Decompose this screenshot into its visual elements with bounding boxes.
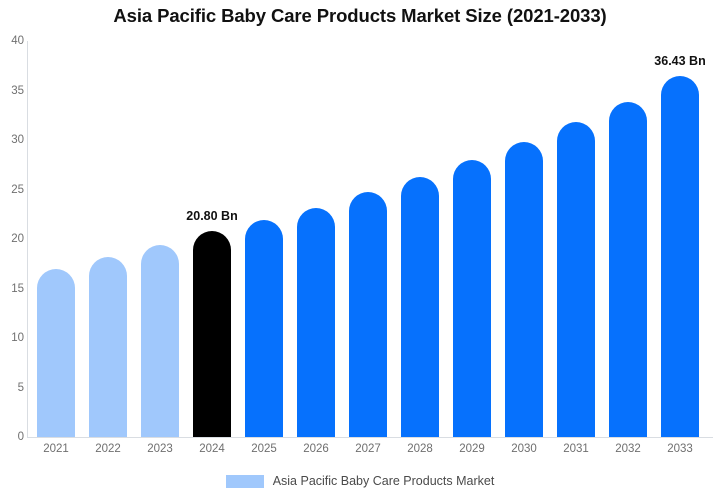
bar-column[interactable] bbox=[602, 0, 654, 437]
y-axis-tick: 30 bbox=[0, 134, 24, 146]
bar-column[interactable] bbox=[446, 0, 498, 437]
bar[interactable] bbox=[505, 142, 543, 437]
y-axis-tick: 35 bbox=[0, 85, 24, 97]
legend-label[interactable]: Asia Pacific Baby Care Products Market bbox=[273, 474, 495, 488]
x-axis-tick: 2028 bbox=[394, 443, 446, 455]
x-axis-tick: 2027 bbox=[342, 443, 394, 455]
bar-column[interactable] bbox=[134, 0, 186, 437]
bar-column[interactable] bbox=[82, 0, 134, 437]
y-axis-tick: 40 bbox=[0, 35, 24, 47]
x-axis-tick: 2029 bbox=[446, 443, 498, 455]
bar[interactable] bbox=[349, 192, 387, 437]
x-axis-tick: 2031 bbox=[550, 443, 602, 455]
y-axis-tick: 5 bbox=[0, 382, 24, 394]
bar[interactable] bbox=[453, 160, 491, 437]
x-axis-tick: 2025 bbox=[238, 443, 290, 455]
x-axis-tick: 2021 bbox=[30, 443, 82, 455]
y-axis-tick: 15 bbox=[0, 283, 24, 295]
bar-column[interactable] bbox=[394, 0, 446, 437]
bar-column[interactable] bbox=[238, 0, 290, 437]
bar[interactable] bbox=[193, 231, 231, 437]
bar-column[interactable] bbox=[342, 0, 394, 437]
bar-column[interactable] bbox=[30, 0, 82, 437]
legend-color-swatch bbox=[226, 475, 264, 488]
y-axis-tick: 0 bbox=[0, 431, 24, 443]
bar-value-label: 20.80 Bn bbox=[186, 209, 237, 223]
bar-column[interactable]: 36.43 Bn bbox=[654, 0, 706, 437]
bar[interactable] bbox=[401, 177, 439, 437]
x-axis-tick: 2033 bbox=[654, 443, 706, 455]
bar[interactable] bbox=[557, 122, 595, 437]
bar[interactable] bbox=[37, 269, 75, 437]
bar-value-label: 36.43 Bn bbox=[654, 54, 705, 68]
bar[interactable] bbox=[245, 220, 283, 437]
bar-column[interactable]: 20.80 Bn bbox=[186, 0, 238, 437]
bar[interactable] bbox=[89, 257, 127, 437]
x-axis-tick: 2032 bbox=[602, 443, 654, 455]
y-axis-tick-labels: 0510152025303540 bbox=[0, 0, 24, 500]
bar[interactable] bbox=[141, 245, 179, 437]
y-axis-tick: 25 bbox=[0, 184, 24, 196]
x-axis-line bbox=[27, 437, 713, 438]
x-axis-tick: 2026 bbox=[290, 443, 342, 455]
bar[interactable] bbox=[661, 76, 699, 437]
chart-legend: Asia Pacific Baby Care Products Market bbox=[0, 474, 720, 488]
x-axis-tick: 2022 bbox=[82, 443, 134, 455]
x-axis-tick: 2024 bbox=[186, 443, 238, 455]
bar[interactable] bbox=[609, 102, 647, 437]
bar-column[interactable] bbox=[290, 0, 342, 437]
bar-column[interactable] bbox=[550, 0, 602, 437]
bar-column[interactable] bbox=[498, 0, 550, 437]
x-axis-tick: 2030 bbox=[498, 443, 550, 455]
x-axis-tick-labels: 2021202220232024202520262027202820292030… bbox=[27, 443, 713, 465]
x-axis-tick: 2023 bbox=[134, 443, 186, 455]
y-axis-tick: 10 bbox=[0, 332, 24, 344]
bar-chart: Asia Pacific Baby Care Products Market S… bbox=[0, 0, 720, 500]
bar-series: 20.80 Bn36.43 Bn bbox=[27, 0, 713, 437]
bar[interactable] bbox=[297, 208, 335, 437]
y-axis-tick: 20 bbox=[0, 233, 24, 245]
